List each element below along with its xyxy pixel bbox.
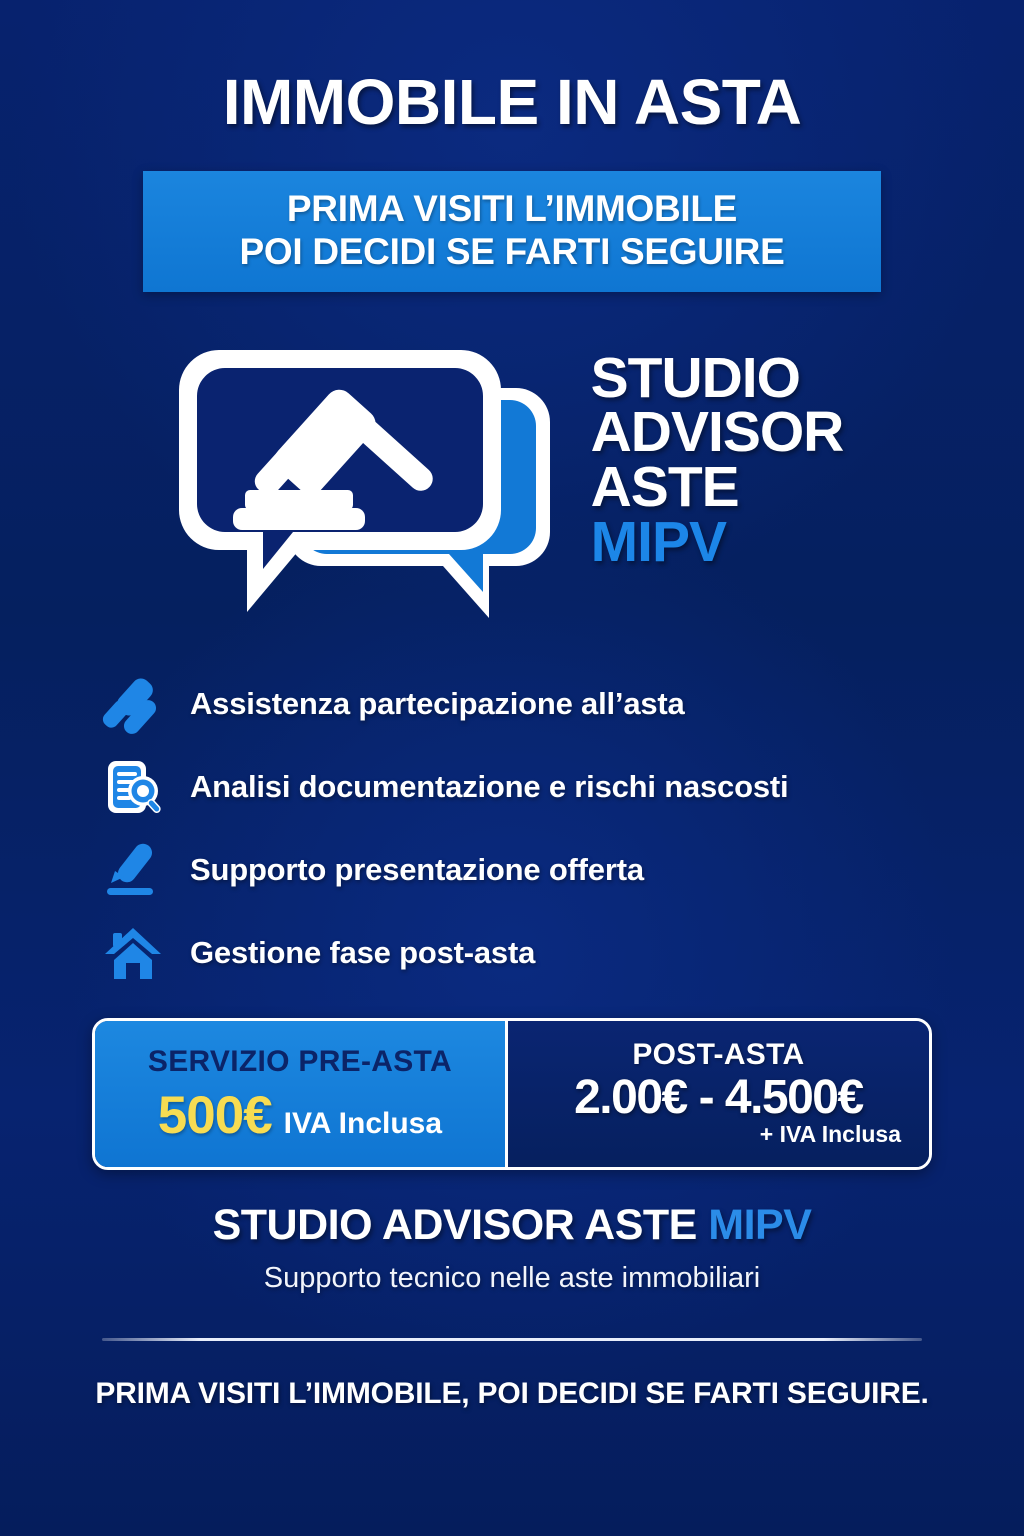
pricing-pre-row: 500€ IVA Inclusa	[158, 1085, 442, 1146]
pricing-card-post-asta: POST-ASTA 2.00€ - 4.500€ + IVA Inclusa	[508, 1021, 929, 1167]
page-title: IMMOBILE IN ASTA	[0, 70, 1024, 134]
gavel-speech-bubbles-logo	[171, 336, 571, 636]
document-search-icon	[102, 756, 164, 818]
logo-line-mipv: MIPV	[591, 515, 844, 570]
list-item: Supporto presentazione offerta	[102, 838, 922, 902]
pricing-pre-amount: 500€	[158, 1085, 272, 1146]
list-item: Gestione fase post-asta	[102, 921, 922, 985]
footer-brand: STUDIO ADVISOR ASTE MIPV	[0, 1201, 1024, 1250]
footer-brand-accent: MIPV	[708, 1201, 811, 1249]
footer-tagline: Supporto tecnico nelle aste immobiliari	[0, 1262, 1024, 1295]
footer-divider	[102, 1338, 922, 1341]
logo-line-studio: STUDIO	[591, 351, 844, 406]
pricing-pre-title: SERVIZIO PRE-ASTA	[148, 1045, 452, 1079]
footer-brand-main: STUDIO ADVISOR ASTE	[213, 1201, 709, 1249]
promo-banner: PRIMA VISITI L’IMMOBILE POI DECIDI SE FA…	[143, 171, 881, 292]
pricing-post-note: + IVA Inclusa	[760, 1121, 901, 1148]
list-item: Analisi documentazione e rischi nascosti	[102, 755, 922, 819]
banner-line-2: POI DECIDI SE FARTI SEGUIRE	[153, 230, 871, 273]
banner-line-1: PRIMA VISITI L’IMMOBILE	[153, 187, 871, 230]
list-item-label: Assistenza partecipazione all’asta	[190, 686, 685, 722]
pricing-panel: SERVIZIO PRE-ASTA 500€ IVA Inclusa POST-…	[92, 1018, 932, 1170]
list-item: Assistenza partecipazione all’asta	[102, 672, 922, 736]
pen-signature-icon	[102, 839, 164, 901]
pricing-post-title: POST-ASTA	[632, 1038, 804, 1072]
logo-line-aste: ASTE	[591, 460, 844, 515]
logo-block: STUDIO ADVISOR ASTE MIPV	[0, 336, 1024, 636]
feature-list: Assistenza partecipazione all’asta	[102, 672, 922, 985]
pricing-pre-note: IVA Inclusa	[284, 1107, 442, 1141]
logo-wordmark: STUDIO ADVISOR ASTE MIPV	[591, 351, 844, 570]
gavel-icon	[102, 673, 164, 735]
logo-line-advisor: ADVISOR	[591, 405, 844, 460]
list-item-label: Analisi documentazione e rischi nascosti	[190, 769, 788, 805]
list-item-label: Gestione fase post-asta	[190, 935, 535, 971]
house-icon	[102, 922, 164, 984]
list-item-label: Supporto presentazione offerta	[190, 852, 644, 888]
pricing-card-pre-asta: SERVIZIO PRE-ASTA 500€ IVA Inclusa	[95, 1021, 508, 1167]
footer-cta: PRIMA VISITI L’IMMOBILE, POI DECIDI SE F…	[0, 1377, 1024, 1411]
poster-canvas: IMMOBILE IN ASTA PRIMA VISITI L’IMMOBILE…	[0, 0, 1024, 1536]
pricing-post-range: 2.00€ - 4.500€	[574, 1074, 863, 1123]
